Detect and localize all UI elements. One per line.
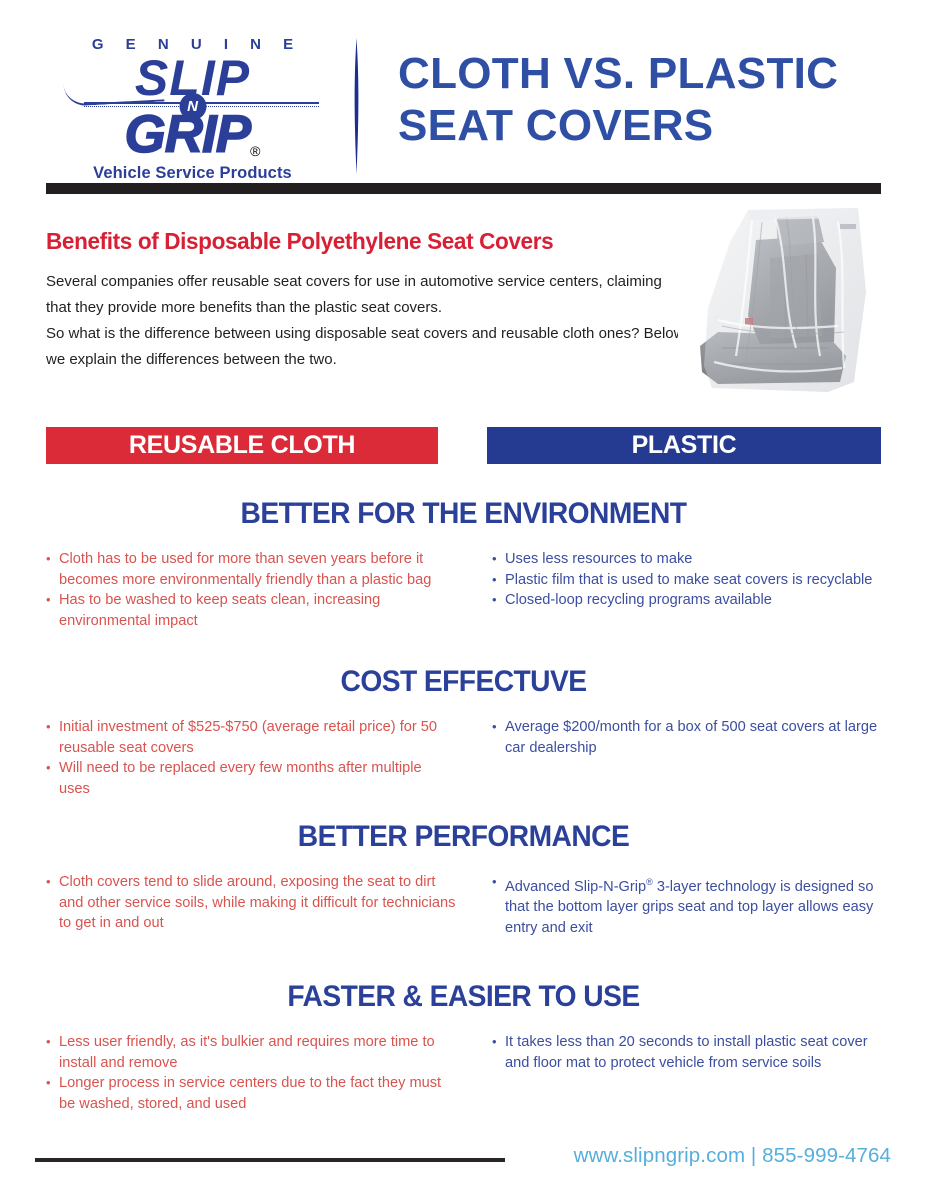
list-item: Less user friendly, as it's bulkier and … <box>46 1032 456 1073</box>
section-title: COST EFFECTUVE <box>28 665 899 699</box>
section-better-performance: BETTER PERFORMANCE Cloth covers tend to … <box>0 820 927 872</box>
section-title: BETTER FOR THE ENVIRONMENT <box>28 497 899 531</box>
intro-paragraph-1: Several companies offer reusable seat co… <box>46 269 686 321</box>
list-item: Cloth covers tend to slide around, expos… <box>46 872 456 934</box>
header-vertical-divider-icon <box>352 38 361 174</box>
list-item: Advanced Slip-N-Grip® 3-layer technology… <box>492 872 892 938</box>
section-cost-effective: COST EFFECTUVE Initial investment of $52… <box>0 665 927 717</box>
list-item: Average $200/month for a box of 500 seat… <box>492 717 892 758</box>
list-item: Uses less resources to make <box>492 549 892 570</box>
brand-logo: G E N U I N E SLIP N GRIP® Vehicle Servi… <box>60 36 325 183</box>
column-header-plastic: PLASTIC <box>487 427 881 464</box>
left-bullet-list: Initial investment of $525-$750 (average… <box>46 717 456 799</box>
right-bullet-list: It takes less than 20 seconds to install… <box>492 1032 892 1073</box>
page-title: CLOTH VS. PLASTIC SEAT COVERS <box>398 48 898 152</box>
page-title-line2: SEAT COVERS <box>398 100 898 152</box>
footer-contact-info[interactable]: www.slipngrip.com | 855-999-4764 <box>574 1144 891 1168</box>
logo-tagline: Vehicle Service Products <box>60 164 325 183</box>
list-item: Will need to be replaced every few month… <box>46 758 456 799</box>
logo-registered-icon: ® <box>250 143 260 159</box>
left-bullet-list: Less user friendly, as it's bulkier and … <box>46 1032 456 1114</box>
section-left-column: Less user friendly, as it's bulkier and … <box>46 1032 456 1114</box>
logo-n-badge: N <box>179 93 206 120</box>
list-item: It takes less than 20 seconds to install… <box>492 1032 892 1073</box>
section-left-column: Cloth has to be used for more than seven… <box>46 549 456 631</box>
list-item: Plastic film that is used to make seat c… <box>492 570 892 591</box>
list-item: Initial investment of $525-$750 (average… <box>46 717 456 758</box>
intro-heading: Benefits of Disposable Polyethylene Seat… <box>46 228 660 255</box>
list-item: Closed-loop recycling programs available <box>492 590 892 611</box>
section-right-column: Average $200/month for a box of 500 seat… <box>492 717 892 758</box>
section-left-column: Cloth covers tend to slide around, expos… <box>46 872 456 934</box>
section-title: BETTER PERFORMANCE <box>28 820 899 854</box>
right-bullet-list: Advanced Slip-N-Grip® 3-layer technology… <box>492 872 892 938</box>
infographic-page: G E N U I N E SLIP N GRIP® Vehicle Servi… <box>0 0 927 1200</box>
page-header: G E N U I N E SLIP N GRIP® Vehicle Servi… <box>0 0 927 178</box>
footer-divider-rule <box>35 1158 505 1162</box>
list-item: Cloth has to be used for more than seven… <box>46 549 456 590</box>
logo-divider-rule: N <box>60 100 325 108</box>
list-item: Has to be washed to keep seats clean, in… <box>46 590 456 631</box>
header-black-bar <box>46 183 881 194</box>
column-header-reusable-cloth: REUSABLE CLOTH <box>46 427 438 464</box>
section-title: FASTER & EASIER TO USE <box>28 980 899 1014</box>
list-item: Longer process in service centers due to… <box>46 1073 456 1114</box>
left-bullet-list: Cloth has to be used for more than seven… <box>46 549 456 631</box>
right-bullet-list: Uses less resources to make Plastic film… <box>492 549 892 611</box>
intro-paragraph-2: So what is the difference between using … <box>46 321 686 373</box>
seat-cover-product-image <box>678 196 900 418</box>
section-left-column: Initial investment of $525-$750 (average… <box>46 717 456 799</box>
intro-block: Benefits of Disposable Polyethylene Seat… <box>46 228 686 373</box>
section-faster-easier: FASTER & EASIER TO USE Less user friendl… <box>0 980 927 1032</box>
section-right-column: It takes less than 20 seconds to install… <box>492 1032 892 1073</box>
right-bullet-list: Average $200/month for a box of 500 seat… <box>492 717 892 758</box>
section-environment: BETTER FOR THE ENVIRONMENT Cloth has to … <box>0 497 927 549</box>
left-bullet-list: Cloth covers tend to slide around, expos… <box>46 872 456 934</box>
section-right-column: Advanced Slip-N-Grip® 3-layer technology… <box>492 872 892 938</box>
section-right-column: Uses less resources to make Plastic film… <box>492 549 892 611</box>
intro-body: Several companies offer reusable seat co… <box>46 269 686 373</box>
page-title-line1: CLOTH VS. PLASTIC <box>398 48 898 100</box>
